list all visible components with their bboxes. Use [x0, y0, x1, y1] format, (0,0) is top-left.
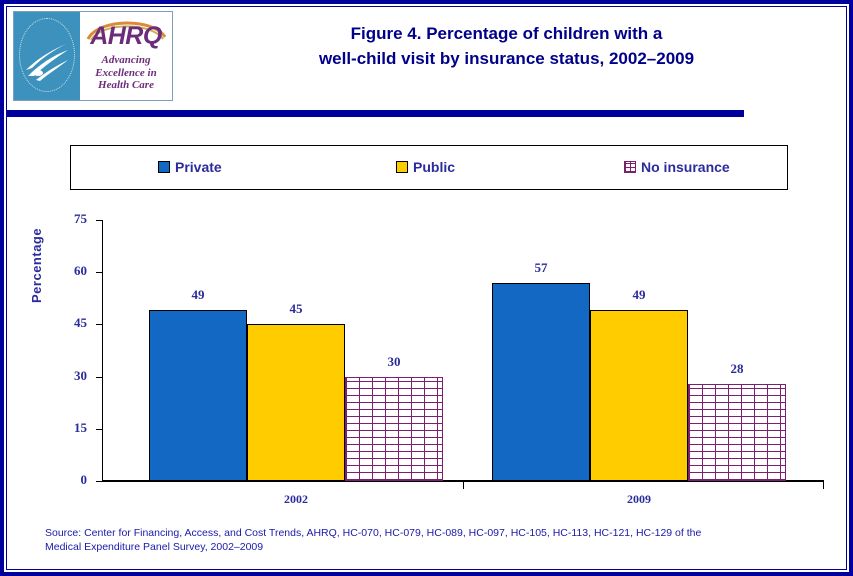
bar-no-insurance-2009: 28: [688, 384, 786, 481]
y-axis-tick-label: 60: [74, 263, 87, 279]
bar-private-2002: 49: [149, 310, 247, 481]
y-axis-tick-label: 75: [74, 211, 87, 227]
y-axis-tick: 30: [96, 377, 102, 378]
x-axis-end-tick: [823, 482, 824, 489]
y-axis-tick: 45: [96, 324, 102, 325]
bar-value-label: 57: [535, 260, 548, 276]
y-axis-tick-label: 0: [81, 472, 88, 488]
figure-page-inner-border: AHRQ Advancing Excellence in Health Care…: [6, 6, 847, 570]
y-axis-line: [102, 220, 103, 482]
y-axis-tick: 15: [96, 429, 102, 430]
x-axis-label-2002: 2002: [284, 492, 308, 507]
y-axis-title: Percentage: [29, 228, 44, 303]
bar-value-label: 45: [290, 301, 303, 317]
y-axis-tick: 0: [96, 481, 102, 482]
chart-plot-area: Percentage 01530456075 494530574928 2002…: [7, 7, 846, 569]
bar-no-insurance-2002: 30: [345, 377, 443, 481]
source-note-line2: Medical Expenditure Panel Survey, 2002–2…: [45, 540, 825, 554]
bar-private-2009: 57: [492, 283, 590, 481]
y-axis-tick: 75: [96, 220, 102, 221]
bar-public-2002: 45: [247, 324, 345, 481]
bar-value-label: 49: [192, 287, 205, 303]
source-note: Source: Center for Financing, Access, an…: [45, 526, 825, 554]
source-note-line1: Source: Center for Financing, Access, an…: [45, 526, 825, 540]
y-axis-tick-label: 15: [74, 420, 87, 436]
bar-value-label: 30: [388, 354, 401, 370]
x-axis-label-2009: 2009: [627, 492, 651, 507]
bar-value-label: 28: [731, 361, 744, 377]
y-axis-tick-label: 30: [74, 368, 87, 384]
chart-axes: 01530456075 494530574928 20022009: [102, 220, 824, 481]
y-axis-tick-label: 45: [74, 315, 87, 331]
figure-page: AHRQ Advancing Excellence in Health Care…: [0, 0, 853, 576]
bar-value-label: 49: [633, 287, 646, 303]
bar-public-2009: 49: [590, 310, 688, 481]
y-axis-tick: 60: [96, 272, 102, 273]
x-axis-group-separator: [463, 482, 464, 489]
